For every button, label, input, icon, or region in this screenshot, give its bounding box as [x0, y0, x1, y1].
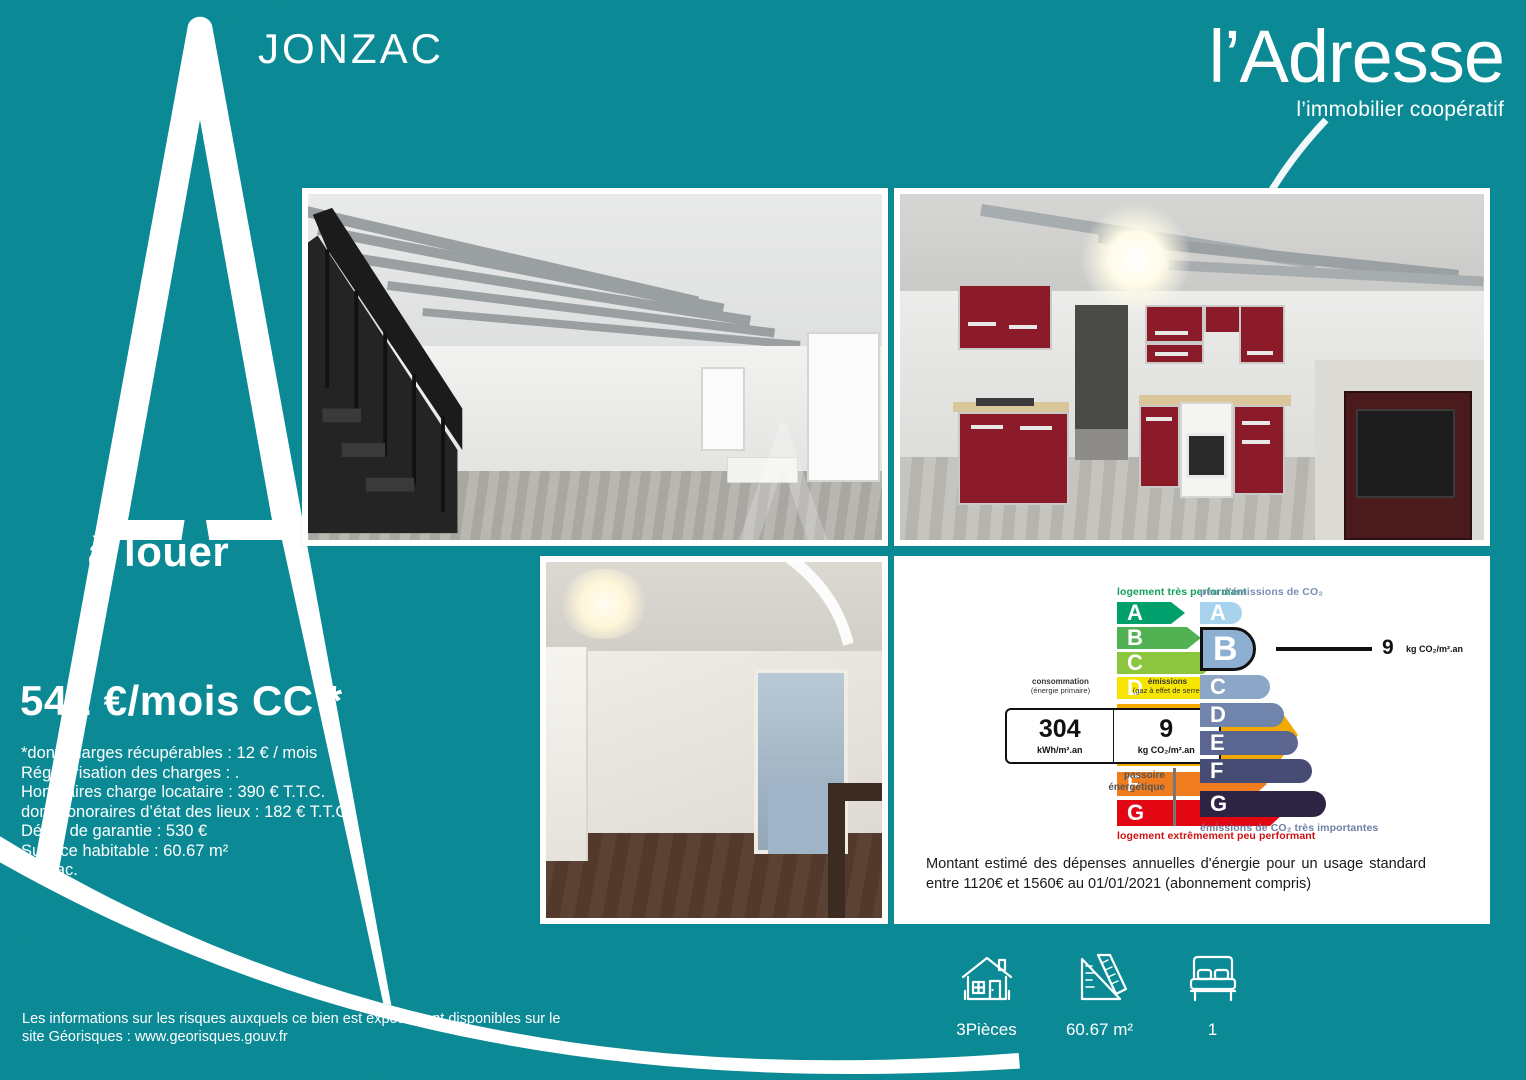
bar-letter: G — [1127, 802, 1144, 824]
price-label: 542 €/mois CC * — [20, 677, 343, 725]
feature-label: 60.67 m² — [1066, 1020, 1133, 1040]
watermark-curve-icon — [734, 562, 882, 647]
consumption-value: 304 — [1039, 717, 1081, 742]
detail-line: Honoraires charge locataire : 390 € T.T.… — [21, 783, 421, 803]
emission-value: 9 — [1159, 717, 1173, 742]
feature-bedrooms: 1 — [1156, 946, 1269, 1056]
detail-line: Surface habitable : 60.67 m² — [21, 842, 421, 862]
brand-logo: l’Adresse l’immobilier coopératif — [1136, 18, 1504, 142]
house-icon — [959, 946, 1015, 1012]
feature-label: 3Pièces — [956, 1020, 1016, 1040]
ges-leader-line — [1276, 647, 1372, 651]
bar-letter: B — [1127, 627, 1143, 649]
page-title: JONZAC — [258, 28, 444, 70]
photo-kitchen — [894, 188, 1490, 546]
detail-line: Dépôt de garantie : 530 € — [21, 822, 421, 842]
bar-letter: B — [1213, 632, 1238, 666]
ceiling-lamp — [559, 569, 649, 639]
ges-unit: kg CO₂/m².an — [1406, 644, 1463, 654]
bar-letter: F — [1210, 760, 1223, 782]
detail-line: Jonzac. — [21, 861, 421, 881]
bar-letter: A — [1127, 602, 1143, 624]
photo-living-room — [302, 188, 888, 546]
feature-rooms: 3Pièces — [930, 946, 1043, 1056]
bar-letter: A — [1210, 602, 1226, 624]
poster-canvas: JONZAC l’Adresse l’immobilier coopératif… — [0, 0, 1526, 1080]
ges-top-caption: peu d’émissions de CO₂ — [1200, 586, 1323, 598]
logo-tagline: l’immobilier coopératif — [1136, 98, 1504, 122]
value-box-labels: consommation (énergie primaire) émission… — [1007, 678, 1221, 695]
energy-diagnostic-panel: logement très performant A B C D E — [894, 556, 1490, 924]
ges-bottom-caption: émissions de CO₂ très importantes — [1200, 822, 1378, 834]
annual-energy-cost-note: Montant estimé des dépenses annuelles d'… — [926, 854, 1426, 894]
bar-letter: G — [1210, 793, 1227, 815]
ges-emissions-scale: peu d’émissions de CO₂ A B C D E F — [1200, 586, 1490, 846]
consumption-unit: kWh/m².an — [1037, 745, 1083, 755]
status-badge: à louer — [88, 528, 229, 576]
feature-surface: 60.67 m² — [1043, 946, 1156, 1056]
watermark-a-icon — [718, 418, 848, 540]
bar-letter: C — [1210, 676, 1226, 698]
bar-letter: D — [1210, 704, 1226, 726]
detail-line: *dont charges récupérables : 12 € / mois — [21, 744, 421, 764]
emission-sublabel: (gaz à effet de serre) — [1133, 686, 1202, 695]
passoire-divider — [1173, 768, 1176, 826]
bed-icon — [1185, 946, 1241, 1012]
georisques-notice: Les informations sur les risques auxquel… — [22, 1010, 562, 1046]
staircase — [308, 194, 549, 540]
bar-letter: E — [1210, 732, 1225, 754]
photo-bedroom — [540, 556, 888, 924]
bar-letter: C — [1127, 652, 1143, 674]
ges-value: 9 — [1382, 636, 1394, 660]
offer-details-list: *dont charges récupérables : 12 € / mois… — [21, 744, 421, 881]
detail-line: Régularisation des charges : . — [21, 764, 421, 784]
detail-line: dont honoraires d’état des lieux : 182 €… — [21, 803, 421, 823]
emission-unit: kg CO₂/m².an — [1138, 745, 1195, 755]
energy-value-box: 304 kWh/m².an 9 kg CO₂/m².an — [1005, 708, 1221, 764]
feature-label: 1 — [1208, 1020, 1217, 1040]
passoire-label: passoire énergétique — [1045, 770, 1165, 794]
property-features: 3Pièces — [930, 946, 1270, 1056]
logo-wordmark: l’Adresse — [1136, 18, 1504, 96]
consumption-sublabel: (énergie primaire) — [1031, 686, 1090, 695]
ruler-icon — [1072, 946, 1128, 1012]
ceiling-lamp — [1081, 204, 1191, 314]
